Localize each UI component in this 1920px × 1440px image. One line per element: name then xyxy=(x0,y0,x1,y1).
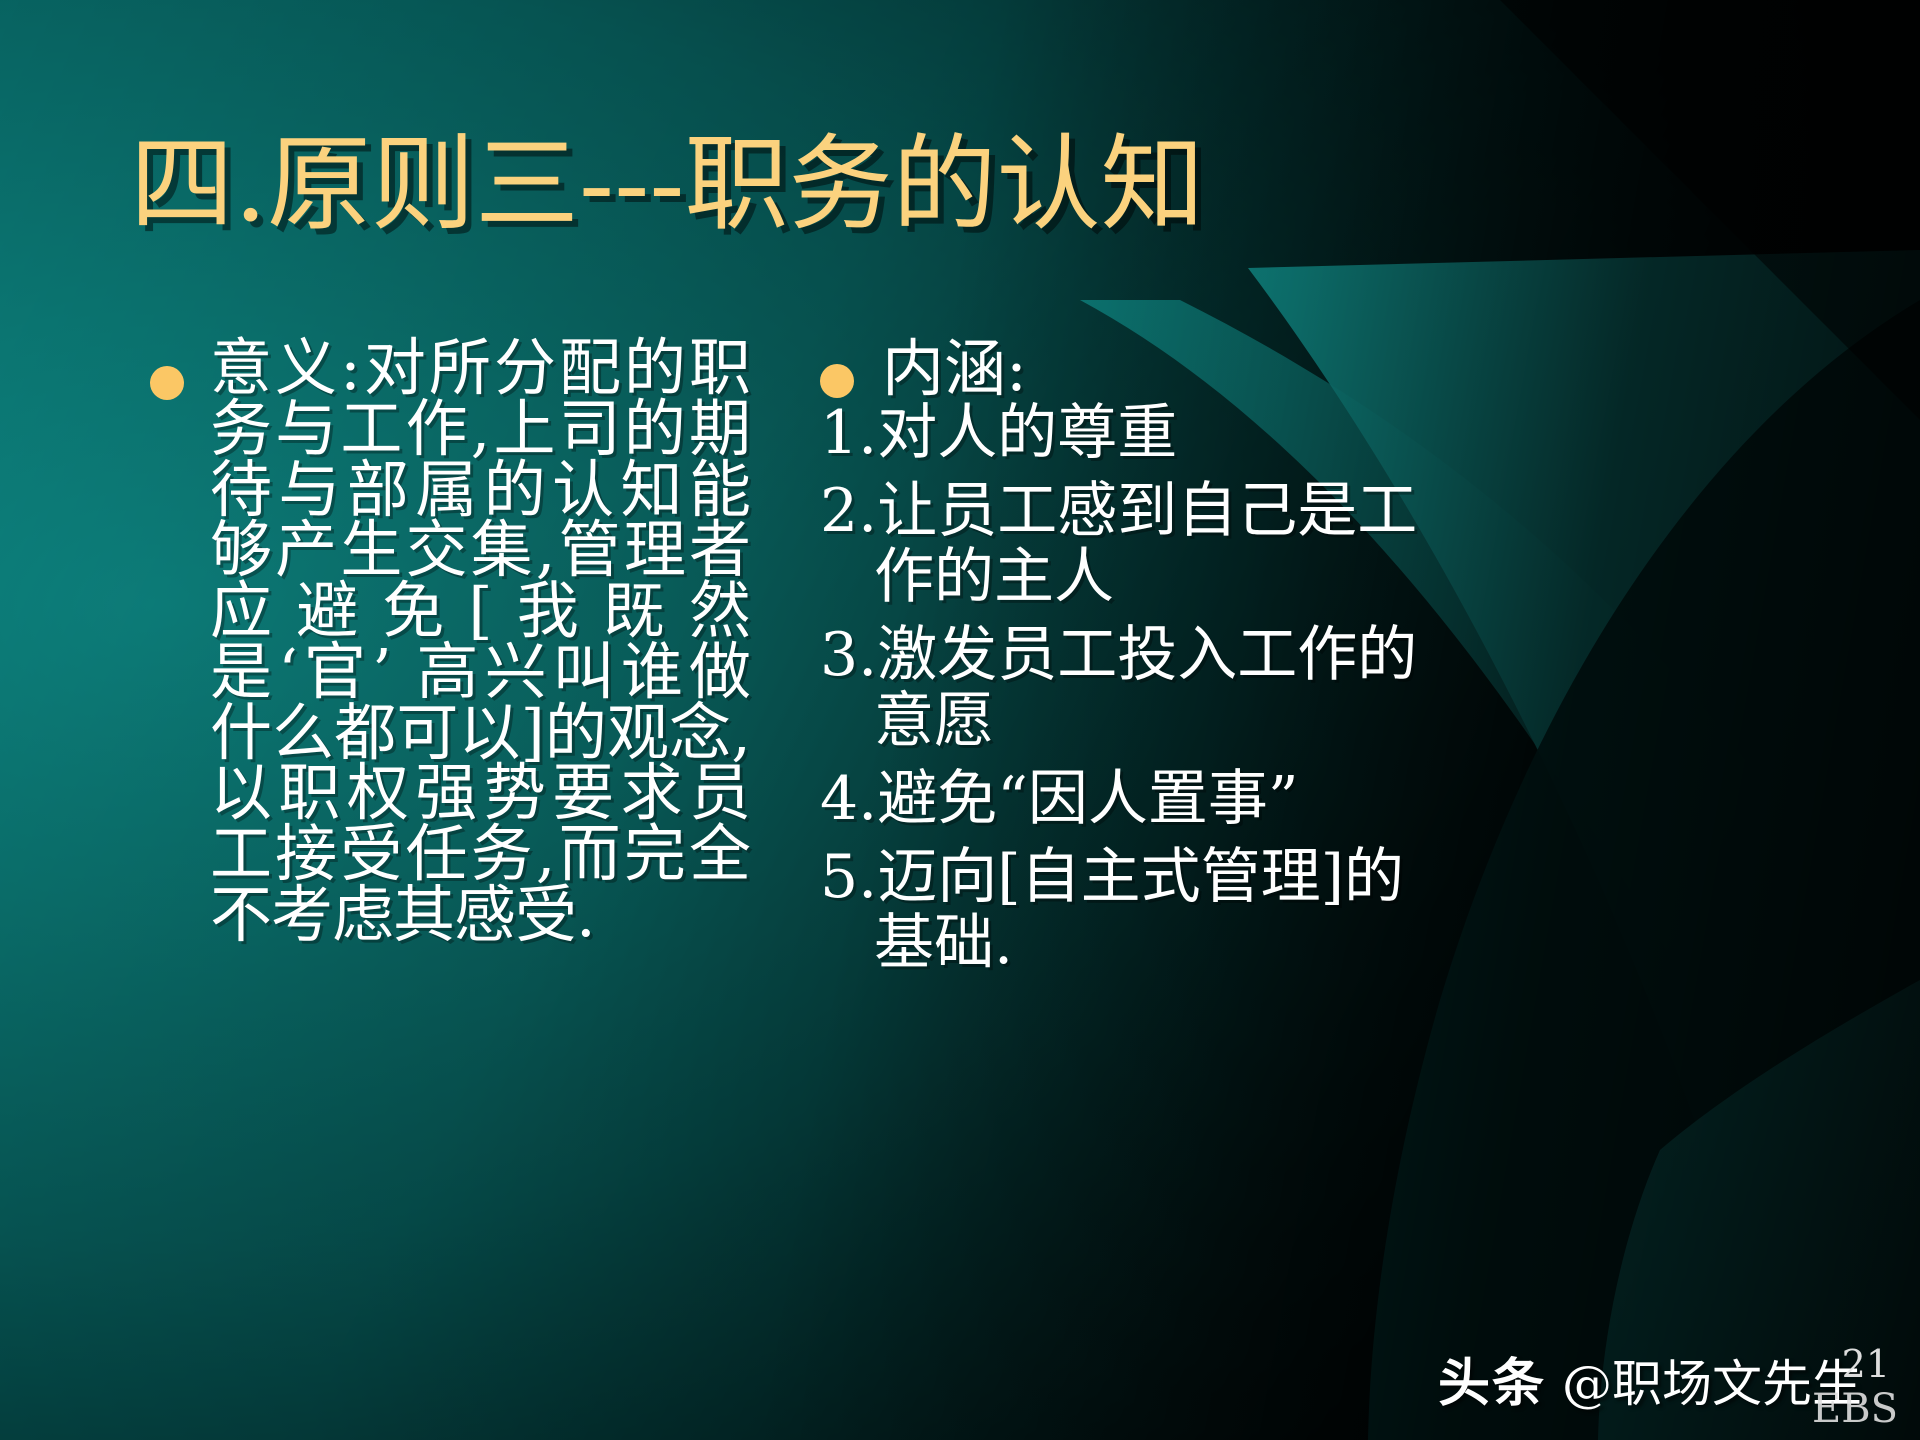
bullet-dot-icon xyxy=(820,364,854,398)
slide-canvas: 四.原则三---职务的认知 意义:对所分配的职务与工作,上司的期待与部属的认知能… xyxy=(0,0,1920,1440)
right-heading-text: 内涵: xyxy=(882,338,1027,400)
list-item: 2.让员工感到自己是工作的主人 xyxy=(820,478,1440,610)
left-content-column: 意义:对所分配的职务与工作,上司的期待与部属的认知能够产生交集,管理者应避免[我… xyxy=(150,338,750,946)
list-item: 3.激发员工投入工作的意愿 xyxy=(820,622,1440,754)
right-content-column: 内涵: 1.对人的尊重 2.让员工感到自己是工作的主人 3.激发员工投入工作的意… xyxy=(820,338,1440,988)
footer-code: EBS xyxy=(1812,1386,1898,1432)
list-item: 1.对人的尊重 xyxy=(820,400,1440,466)
watermark: 头条 @职场文先生 xyxy=(1438,1341,1862,1416)
page-number: 21 xyxy=(1842,1342,1890,1386)
watermark-brand: 头条 xyxy=(1438,1341,1546,1416)
list-item: 5.迈向[自主式管理]的基础. xyxy=(820,844,1440,976)
left-bullet-row: 意义:对所分配的职务与工作,上司的期待与部属的认知能够产生交集,管理者应避免[我… xyxy=(150,338,750,946)
left-paragraph-text: 意义:对所分配的职务与工作,上司的期待与部属的认知能够产生交集,管理者应避免[我… xyxy=(150,338,750,946)
right-numbered-list: 1.对人的尊重 2.让员工感到自己是工作的主人 3.激发员工投入工作的意愿 4.… xyxy=(820,400,1440,976)
slide-title: 四.原则三---职务的认知 xyxy=(130,128,1204,240)
right-bullet-row: 内涵: xyxy=(820,338,1440,400)
list-item: 4.避免“因人置事” xyxy=(820,766,1440,832)
